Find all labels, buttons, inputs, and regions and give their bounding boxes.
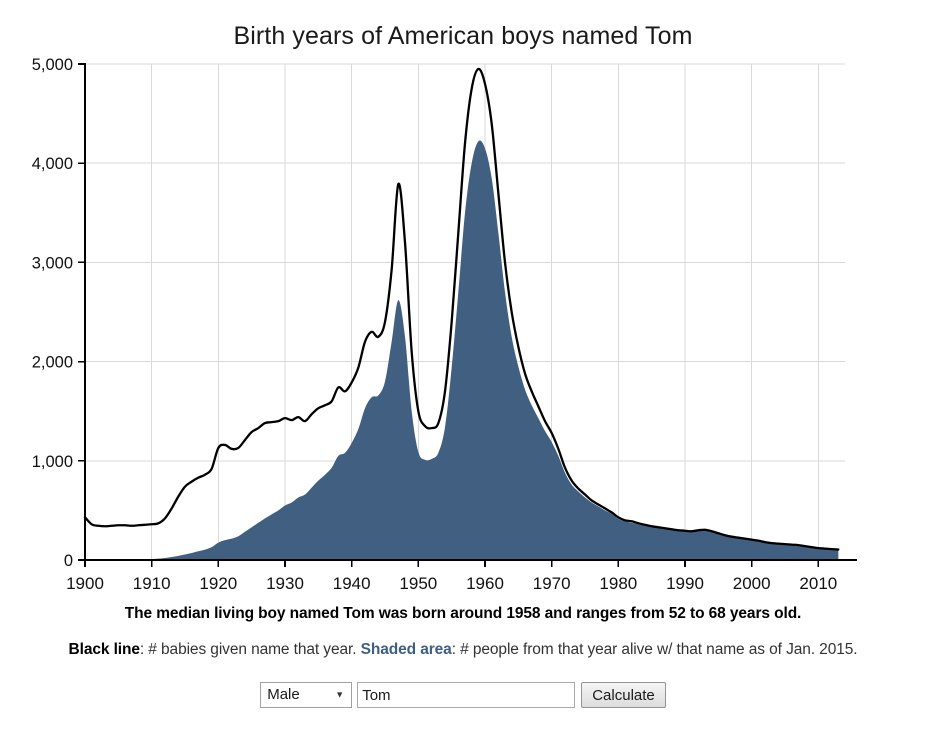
- x-tick-label: 1970: [533, 574, 571, 593]
- legend-key-black-line: Black line: [69, 641, 140, 658]
- page-title: Birth years of American boys named Tom: [0, 0, 926, 51]
- birth-years-area-chart: 1900191019201930194019501960197019801990…: [0, 51, 926, 596]
- y-tick-label: 1,000: [32, 453, 73, 471]
- y-tick-label: 4,000: [32, 155, 73, 173]
- y-axis-tick-labels: 01,0002,0003,0004,0005,000: [32, 56, 73, 570]
- sex-select-wrapper: MaleFemale ▼: [260, 682, 352, 708]
- query-form: MaleFemale ▼ Calculate: [0, 660, 926, 708]
- x-tick-label: 1900: [66, 574, 104, 593]
- x-tick-label: 2010: [799, 574, 837, 593]
- y-tick-label: 3,000: [32, 254, 73, 272]
- legend-caption: Black line: # babies given name that yea…: [0, 624, 926, 660]
- y-tick-label: 5,000: [32, 56, 73, 74]
- legend-key-shaded-area: Shaded area: [361, 641, 452, 658]
- sex-select[interactable]: MaleFemale: [260, 682, 352, 708]
- x-tick-label: 1950: [399, 574, 437, 593]
- x-tick-label: 1910: [133, 574, 171, 593]
- x-axis-tick-labels: 1900191019201930194019501960197019801990…: [66, 574, 837, 593]
- legend-desc-shaded-area: : # people from that year alive w/ that …: [452, 641, 858, 658]
- x-tick-label: 1980: [599, 574, 637, 593]
- chart-container: 1900191019201930194019501960197019801990…: [0, 51, 926, 596]
- calculate-button[interactable]: Calculate: [581, 682, 666, 708]
- area-series: [85, 141, 838, 560]
- median-summary-caption: The median living boy named Tom was born…: [0, 596, 926, 624]
- x-tick-label: 1920: [199, 574, 237, 593]
- x-tick-label: 1940: [333, 574, 371, 593]
- x-tick-label: 1990: [666, 574, 704, 593]
- x-tick-label: 1930: [266, 574, 304, 593]
- shaded-area-series: [85, 141, 838, 560]
- y-tick-label: 2,000: [32, 354, 73, 372]
- legend-desc-black-line: : # babies given name that year.: [140, 641, 361, 658]
- y-tick-label: 0: [64, 552, 73, 570]
- name-birth-year-chart-page: Birth years of American boys named Tom 1…: [0, 0, 926, 738]
- x-tick-label: 2000: [733, 574, 771, 593]
- x-tick-label: 1960: [466, 574, 504, 593]
- name-input[interactable]: [357, 682, 575, 708]
